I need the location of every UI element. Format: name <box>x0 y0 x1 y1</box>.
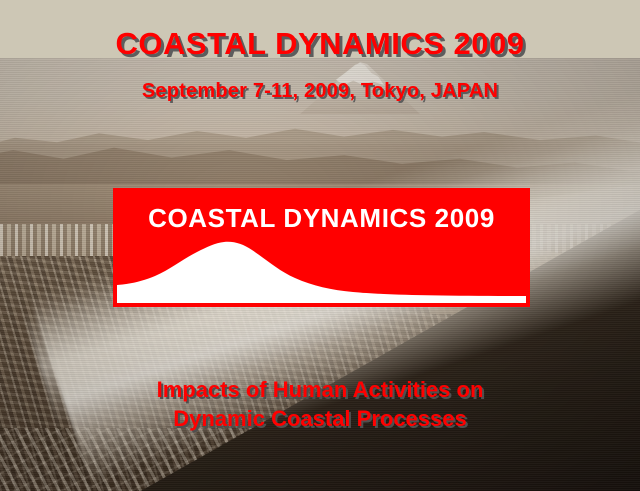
conference-theme-line-2: Dynamic Coastal Processes <box>0 404 640 433</box>
conference-poster: COASTAL DYNAMICS 2009 September 7-11, 20… <box>0 0 640 491</box>
conference-theme: Impacts of Human Activities on Dynamic C… <box>0 375 640 433</box>
conference-logo: COASTAL DYNAMICS 2009 <box>113 188 530 307</box>
logo-title: COASTAL DYNAMICS 2009 <box>113 203 530 234</box>
page-title: COASTAL DYNAMICS 2009 <box>0 26 640 62</box>
conference-theme-line-1: Impacts of Human Activities on <box>0 375 640 404</box>
conference-dates-location: September 7-11, 2009, Tokyo, JAPAN <box>0 80 640 103</box>
coastal-wave-graphic <box>117 241 526 303</box>
